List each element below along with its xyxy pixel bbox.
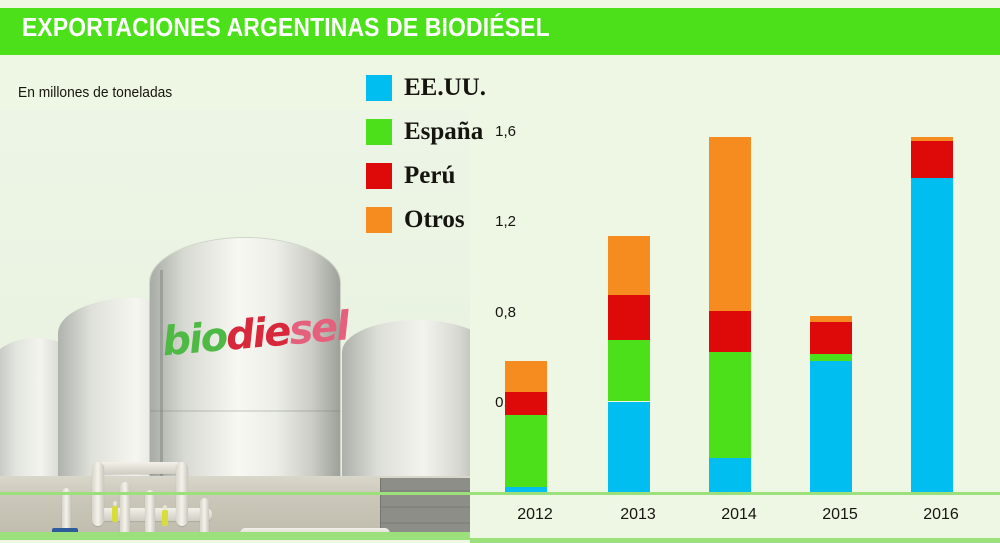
bar-segment-2014-espaa[interactable] — [709, 352, 751, 458]
legend-swatch-peru — [366, 163, 392, 189]
bar-segment-2016-per[interactable] — [911, 141, 953, 177]
bar-segment-2016-eeuu[interactable] — [911, 178, 953, 492]
legend-swatch-espana — [366, 119, 392, 145]
bar-segment-2015-espaa[interactable] — [810, 354, 852, 361]
worker-figure — [112, 506, 118, 522]
tank-band — [150, 410, 340, 412]
bar-segment-2013-eeuu[interactable] — [608, 402, 650, 493]
bar-segment-2013-per[interactable] — [608, 295, 650, 340]
legend-item-peru[interactable]: Perú — [366, 154, 486, 198]
bar-segment-2012-otros[interactable] — [505, 361, 547, 393]
baseline-left-extension — [0, 492, 470, 495]
legend-label-otros: Otros — [404, 206, 465, 234]
chart-plot-area: 1,6 1,2 0,8 0,4 0 2012 2013 2014 2015 20… — [470, 110, 1000, 540]
bar-2013[interactable] — [608, 110, 650, 492]
legend-swatch-otros — [366, 207, 392, 233]
pipe-arch — [92, 462, 188, 474]
x-axis-bottom-strip — [470, 538, 1000, 543]
legend-item-eeuu[interactable]: EE.UU. — [366, 66, 486, 110]
bar-2015[interactable] — [810, 110, 852, 492]
bar-segment-2015-eeuu[interactable] — [810, 361, 852, 492]
bar-segment-2015-per[interactable] — [810, 322, 852, 354]
bar-segment-2016-otros[interactable] — [911, 137, 953, 142]
page-title: EXPORTACIONES ARGENTINAS DE BIODIÉSEL — [22, 12, 550, 43]
bar-2014[interactable] — [709, 110, 751, 492]
bar-segment-2012-espaa[interactable] — [505, 415, 547, 487]
x-tick-label-2013: 2013 — [606, 506, 670, 524]
bar-segment-2014-eeuu[interactable] — [709, 458, 751, 492]
x-tick-label-2016: 2016 — [909, 506, 973, 524]
legend-item-otros[interactable]: Otros — [366, 198, 486, 242]
logo-text-sel: sel — [287, 303, 349, 354]
photo-bottom-strip — [0, 532, 470, 540]
concrete-wall — [380, 478, 470, 540]
stacked-bar-chart: 1,6 1,2 0,8 0,4 0 2012 2013 2014 2015 20… — [470, 110, 1000, 540]
x-tick-label-2012: 2012 — [503, 506, 567, 524]
bar-segment-2012-per[interactable] — [505, 392, 547, 415]
bar-segment-2013-espaa[interactable] — [608, 340, 650, 401]
bar-segment-2015-otros[interactable] — [810, 316, 852, 323]
logo-text-bio: bio — [160, 314, 228, 365]
legend-swatch-eeuu — [366, 75, 392, 101]
worker-figure — [162, 510, 168, 526]
legend-item-espana[interactable]: España — [366, 110, 486, 154]
bar-segment-2014-otros[interactable] — [709, 137, 751, 311]
legend-label-eeuu: EE.UU. — [404, 74, 486, 102]
bar-2016[interactable] — [911, 110, 953, 492]
chart-subtitle: En millones de toneladas — [18, 84, 172, 101]
x-tick-label-2015: 2015 — [808, 506, 872, 524]
logo-text-die: die — [224, 308, 291, 359]
chart-legend: EE.UU. España Perú Otros — [366, 66, 486, 242]
legend-label-peru: Perú — [404, 162, 455, 190]
bar-segment-2014-per[interactable] — [709, 311, 751, 352]
bar-2012[interactable] — [505, 110, 547, 492]
x-tick-label-2014: 2014 — [707, 506, 771, 524]
bar-segment-2013-otros[interactable] — [608, 236, 650, 295]
